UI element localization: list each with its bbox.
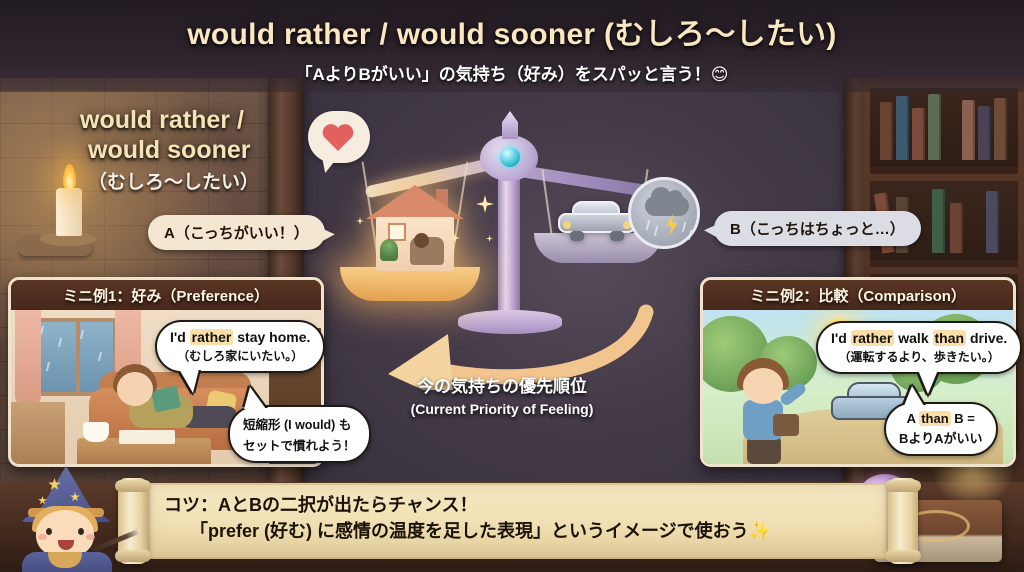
boy-legs: [747, 436, 781, 464]
formula-post: B =: [951, 411, 975, 426]
person-head: [414, 233, 429, 248]
panel-header: ミニ例1：好み（Preference）: [11, 280, 321, 310]
speech-bubble-formula-note: A than B = BよりAがいい: [884, 402, 998, 456]
shoulder-bag-icon: [773, 414, 799, 436]
scroll-roll-right: [888, 478, 918, 564]
lightning-bolt-icon: [665, 214, 679, 236]
bubble-tail: [244, 387, 266, 409]
car-wheel: [610, 231, 624, 241]
person-head: [117, 372, 153, 406]
center-caption: 今の気持ちの優先順位 (Current Priority of Feeling): [352, 372, 652, 417]
highlight-rather: rather: [851, 330, 895, 346]
note-line-1: 短縮形 (I would) も: [243, 414, 356, 433]
label-option-a: A（こっちがいい！）: [148, 215, 325, 250]
bubble-text-pre: I'd: [170, 329, 190, 345]
label-option-b: B（こっちはちょっと…）: [714, 211, 921, 246]
cheek-blush: [38, 534, 47, 540]
headline-line-1: would rather /: [80, 106, 259, 136]
eye: [78, 528, 84, 535]
car-headlight: [563, 221, 571, 229]
headline-line-2: would sooner: [88, 136, 259, 166]
book-spine: [932, 189, 945, 253]
candle-icon: [56, 188, 82, 236]
book-spine: [880, 102, 893, 160]
bubble-text-pre: I'd: [831, 330, 851, 346]
car-wheel: [570, 231, 584, 241]
bubble-text-post: drive.: [966, 330, 1007, 346]
storm-cloud-icon: [628, 177, 700, 249]
book-spine: [986, 191, 999, 253]
highlight-than: than: [919, 411, 950, 426]
eye: [46, 528, 52, 535]
center-caption-en: (Current Priority of Feeling): [352, 401, 652, 417]
plant-icon: [380, 239, 398, 261]
cloud-shape: [645, 196, 689, 216]
infographic-canvas: would rather / would sooner (むしろ〜したい) 「A…: [0, 0, 1024, 572]
book-spine: [962, 100, 975, 160]
bubble-text-post: stay home.: [233, 329, 310, 345]
tip-scroll-banner: コツ：AとBの二択が出たらチャンス！ 「prefer (好む) に感情の温度を足…: [118, 478, 918, 564]
highlight-than: than: [933, 330, 967, 346]
bookshelf-row: [870, 88, 1018, 174]
curtain: [15, 310, 41, 406]
bubble-english-line: I'd rather stay home.: [170, 329, 310, 345]
page-title: would rather / would sooner (むしろ〜したい): [0, 9, 1024, 53]
scale-pan-left: [340, 267, 480, 301]
bubble-tail: [904, 386, 924, 406]
side-table: [11, 402, 65, 467]
car-icon: [558, 201, 636, 239]
scale-finial: [502, 111, 518, 139]
header-banner: would rather / would sooner (むしろ〜したい) 「A…: [0, 0, 1024, 92]
speech-bubble-contraction-note: 短縮形 (I would) も セットで慣れよう！: [228, 405, 371, 463]
house-roof: [366, 185, 464, 219]
formula-line-1: A than B =: [899, 411, 983, 426]
cheek-blush: [86, 534, 95, 540]
coffee-cup-icon: [83, 422, 109, 442]
formula-line-2: BよりAがいい: [899, 428, 983, 447]
note-line-2: セットで慣れよう！: [243, 435, 356, 454]
bubble-tail: [179, 369, 199, 393]
rain-drop: [654, 226, 659, 236]
headline-block: would rather / would sooner （むしろ〜したい）: [80, 106, 259, 194]
panel-title: ミニ例1：好み（Preference）: [63, 285, 269, 306]
highlight-rather: rather: [190, 329, 234, 345]
book-spine: [950, 203, 963, 253]
heart-icon: [322, 123, 354, 151]
boy-head: [743, 368, 783, 404]
scroll-text-block: コツ：AとBの二択が出たらチャンス！ 「prefer (好む) に感情の温度を足…: [164, 492, 878, 544]
sparkle-icon: [356, 217, 364, 225]
bubble-japanese-line: （運転するより、歩きたい。）: [831, 348, 1007, 365]
formula-pre: A: [907, 411, 920, 426]
flame-icon: [63, 164, 76, 190]
magic-wand-icon: [91, 528, 141, 552]
rain-drop: [646, 220, 651, 230]
heart-speech-bubble: [308, 111, 370, 163]
house-icon: [366, 185, 464, 271]
scroll-cap: [885, 550, 921, 562]
center-caption-jp: 今の気持ちの優先順位: [352, 372, 652, 397]
headline-line-3: （むしろ〜したい）: [88, 167, 259, 194]
speech-bubble-comparison-main: I'd rather walk than drive. （運転するより、歩きたい…: [816, 321, 1022, 374]
wizard-character: [4, 466, 136, 572]
book-spine: [912, 108, 925, 160]
book-spine: [928, 94, 941, 160]
page-subtitle: 「AよりBがいい」の気持ち（好み）をスパッと言う！😊: [0, 60, 1024, 85]
book-spine: [994, 98, 1007, 160]
tip-line-1: コツ：AとBの二択が出たらチャンス！: [164, 492, 878, 518]
bubble-english-line: I'd rather walk than drive.: [831, 330, 1007, 346]
panel-title: ミニ例2：比較（Comparison）: [750, 285, 966, 306]
rain-drop: [688, 230, 693, 240]
speech-bubble-preference-main: I'd rather stay home. （むしろ家にいたい。）: [155, 320, 325, 373]
sparkle-icon: [476, 195, 494, 213]
scale-gem-icon: [500, 147, 520, 167]
bubble-text-mid: walk: [894, 330, 932, 346]
tip-line-2: 「prefer (好む) に感情の温度を足した表現」というイメージで使おう✨: [190, 518, 878, 544]
book-spine: [978, 106, 991, 160]
scroll-cap: [885, 480, 921, 492]
sparkle-icon: [486, 235, 493, 242]
panel-header: ミニ例2：比較（Comparison）: [703, 280, 1013, 310]
open-book-icon: [119, 430, 175, 444]
rain-drop: [682, 222, 687, 232]
book-spine: [896, 96, 909, 160]
bubble-japanese-line: （むしろ家にいたい。）: [170, 347, 310, 364]
